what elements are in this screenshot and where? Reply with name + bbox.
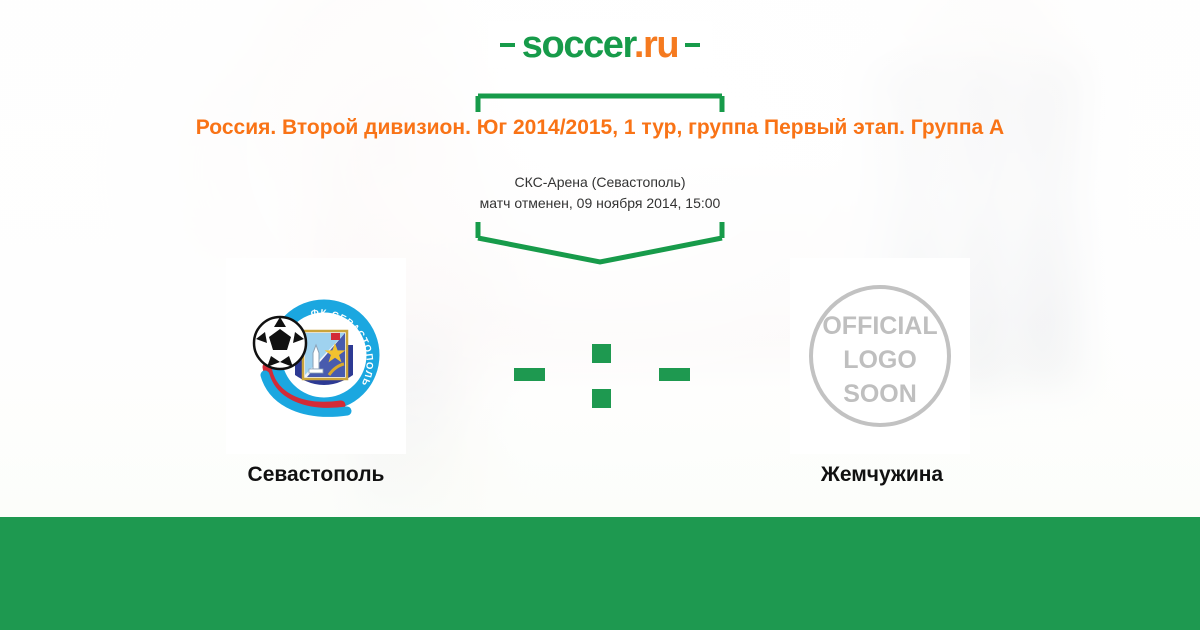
logo-word-ru: .ru: [634, 24, 678, 66]
site-logo[interactable]: soccer.ru: [466, 21, 734, 68]
away-team-placeholder-logo-icon: OFFICIAL LOGO SOON: [804, 280, 956, 432]
away-team-name: Жемчужина: [717, 463, 1047, 487]
placeholder-line-2: LOGO: [843, 346, 917, 374]
logo-word-soccer: soccer: [522, 24, 634, 66]
home-team-name: Севастополь: [151, 463, 481, 487]
logo-dash-right-icon: [685, 43, 700, 47]
venue-label: СКС-Арена (Севастополь): [300, 172, 900, 193]
footer-bar: [0, 517, 1200, 630]
background-photo: [0, 0, 1200, 517]
home-team-logo-card[interactable]: ФК СЕВАСТОПОЛЬ: [226, 258, 406, 454]
away-score-placeholder: [659, 368, 690, 381]
home-score-placeholder: [514, 368, 545, 381]
match-preview-card: soccer.ru Россия. Второй дивизион. Юг 20…: [0, 0, 1200, 630]
placeholder-line-1: OFFICIAL: [822, 312, 937, 340]
logo-dash-left-icon: [500, 43, 515, 47]
score-separator-dot-bottom: [592, 389, 611, 408]
competition-title: Россия. Второй дивизион. Юг 2014/2015, 1…: [110, 113, 1090, 142]
placeholder-line-3: SOON: [843, 380, 917, 408]
home-team-crest-icon: ФК СЕВАСТОПОЛЬ: [243, 283, 389, 429]
match-status-datetime: матч отменен, 09 ноября 2014, 15:00: [300, 193, 900, 214]
score-separator-dot-top: [592, 344, 611, 363]
away-team-logo-card[interactable]: OFFICIAL LOGO SOON: [790, 258, 970, 454]
